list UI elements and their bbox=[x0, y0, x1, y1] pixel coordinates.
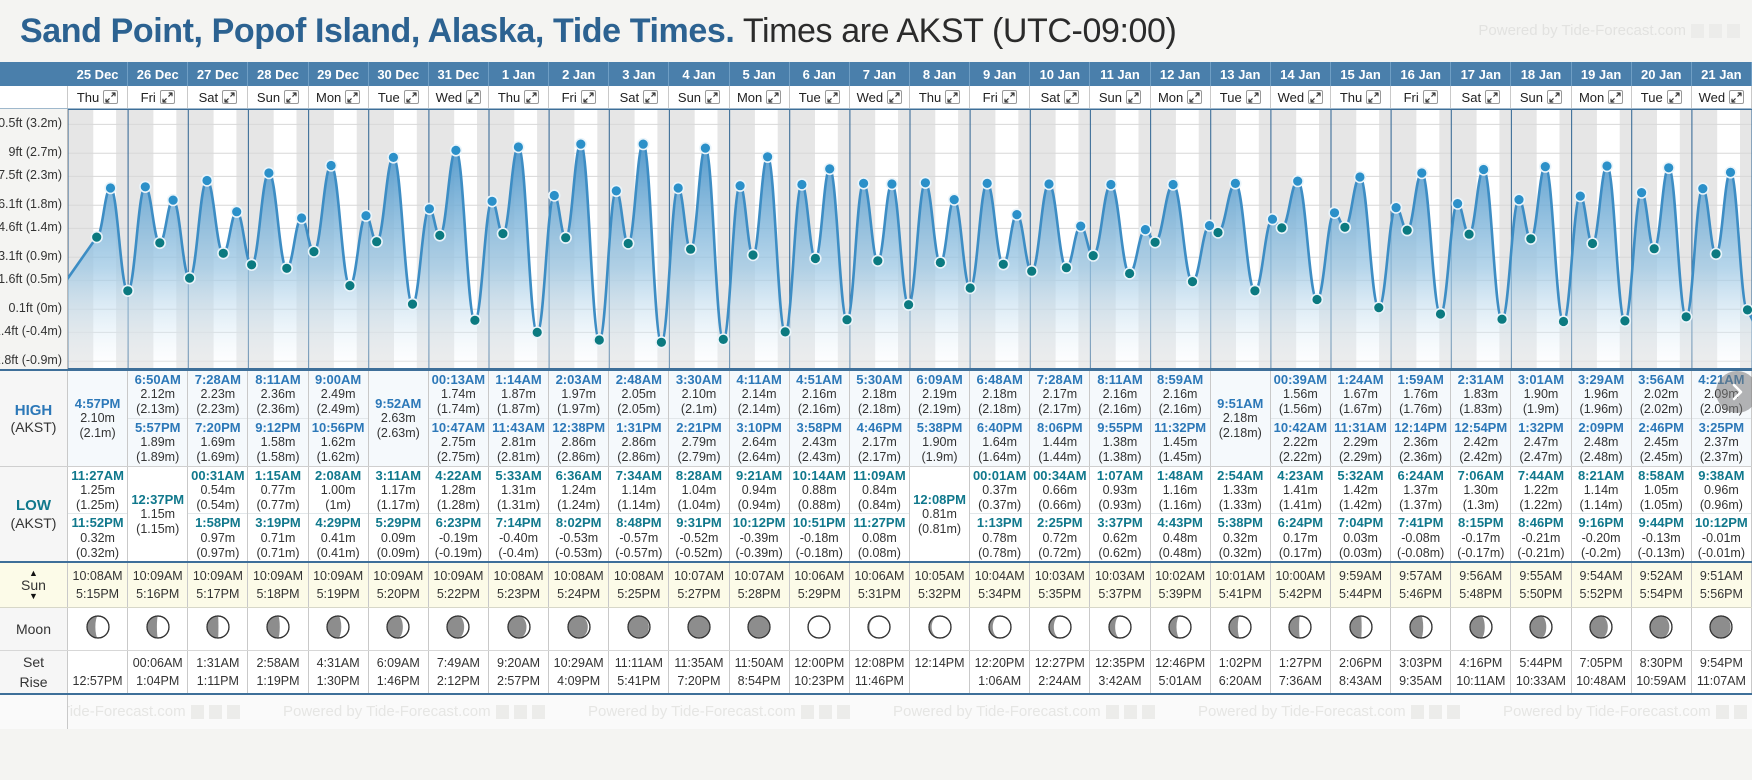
low-tide-time: 5:32AM bbox=[1337, 468, 1383, 483]
low-tide-time: 8:48PM bbox=[616, 515, 662, 530]
low-tide-entry: 6:36AM1.24m(1.24m) bbox=[549, 467, 608, 514]
brand-icon-1 bbox=[1411, 705, 1424, 719]
low-tide-cell: 11:27AM1.25m(1.25m)11:52PM0.32m(0.32m) bbox=[68, 467, 128, 562]
high-tide-time: 7:28AM bbox=[1037, 372, 1083, 387]
low-tide-row: LOW (AKST) 11:27AM1.25m(1.25m)11:52PM0.3… bbox=[0, 467, 1752, 564]
sunset-time: 5:44PM bbox=[1339, 585, 1382, 604]
expand-arrows-icon[interactable] bbox=[1366, 90, 1381, 104]
high-tide-cell: 1:24AM1.67m(1.67m)11:31AM2.29m(2.29m) bbox=[1331, 371, 1391, 466]
moon-phase-cell bbox=[429, 608, 489, 650]
moon-phase-cell bbox=[489, 608, 549, 650]
high-tide-time: 12:54PM bbox=[1454, 420, 1507, 435]
high-tide-height-alt: (2.1m) bbox=[681, 402, 717, 417]
high-tide-height: 2.29m bbox=[1343, 435, 1378, 450]
high-tide-entry: 8:11AM2.16m(2.16m) bbox=[1090, 371, 1149, 418]
high-tide-cell: 6:48AM2.18m(2.18m)6:40PM1.64m(1.64m) bbox=[970, 371, 1030, 466]
high-tide-entry: 00:13AM1.74m(1.74m) bbox=[429, 371, 488, 418]
moon-phase-cell bbox=[128, 608, 188, 650]
moon-setrise-cell: 12:35PM3:42AM bbox=[1090, 651, 1150, 693]
moon-phase-icon bbox=[145, 614, 171, 645]
date-header-row: 25 Dec26 Dec27 Dec28 Dec29 Dec30 Dec31 D… bbox=[0, 62, 1752, 86]
sunset-time: 5:42PM bbox=[1279, 585, 1322, 604]
sun-cell: 10:09AM5:19PM bbox=[309, 563, 369, 607]
sunrise-time: 9:56AM bbox=[1459, 567, 1502, 586]
moonrise-time: 9:35AM bbox=[1399, 672, 1442, 690]
high-tide-height-alt: (2.79m) bbox=[677, 450, 720, 465]
low-tide-entry: 1:13PM0.78m(0.78m) bbox=[970, 513, 1029, 561]
high-tide-time: 1:14AM bbox=[495, 372, 541, 387]
moon-phase-icon bbox=[205, 614, 231, 645]
low-tide-time: 7:41PM bbox=[1398, 515, 1444, 530]
low-tide-entry: 10:14AM0.88m(0.88m) bbox=[790, 467, 849, 514]
date-header-cell[interactable]: 1 Jan bbox=[489, 62, 549, 86]
high-tide-height: 2.75m bbox=[441, 435, 476, 450]
date-header-cell[interactable]: 9 Jan bbox=[970, 62, 1030, 86]
footer-watermark-text: Powered by Tide-Forecast.com bbox=[1503, 703, 1711, 720]
high-tide-entry: 12:14PM2.36m(2.36m) bbox=[1391, 418, 1450, 466]
high-tide-cell: 3:30AM2.10m(2.1m)2:21PM2.79m(2.79m) bbox=[669, 371, 729, 466]
high-tide-time: 4:57PM bbox=[75, 396, 121, 411]
expand-arrows-icon[interactable] bbox=[887, 90, 902, 104]
low-tide-entry: 5:33AM1.31m(1.31m) bbox=[489, 467, 548, 514]
high-tide-height-alt: (2.16m) bbox=[798, 402, 841, 417]
low-tide-time: 00:31AM bbox=[191, 468, 244, 483]
brand-icon-3 bbox=[837, 705, 850, 719]
expand-arrows-icon[interactable] bbox=[1608, 90, 1623, 104]
date-header-cell[interactable]: 7 Jan bbox=[850, 62, 910, 86]
high-tide-time: 5:57PM bbox=[135, 420, 181, 435]
weekday-header-cell: Wed bbox=[1692, 86, 1752, 108]
high-tide-entry: 2:21PM2.79m(2.79m) bbox=[669, 418, 728, 466]
high-tide-height: 2.18m bbox=[982, 387, 1017, 402]
low-tide-height: -0.01m bbox=[1702, 531, 1741, 546]
low-tide-cell: 7:44AM1.22m(1.22m)8:46PM-0.21m(-0.21m) bbox=[1511, 467, 1571, 562]
date-header-cell[interactable]: 14 Jan bbox=[1271, 62, 1331, 86]
date-header-cell[interactable]: 28 Dec bbox=[248, 62, 308, 86]
low-tide-cell: 6:24AM1.37m(1.37m)7:41PM-0.08m(-0.08m) bbox=[1391, 467, 1451, 562]
high-tide-height: 2.16m bbox=[1103, 387, 1138, 402]
sun-cell: 10:06AM5:29PM bbox=[790, 563, 850, 607]
sunrise-time: 9:55AM bbox=[1519, 567, 1562, 586]
expand-arrows-icon[interactable] bbox=[1126, 90, 1141, 104]
low-tide-cell: 5:32AM1.42m(1.42m)7:04PM0.03m(0.03m) bbox=[1331, 467, 1391, 562]
low-tide-entry: 12:08PM0.81m(0.81m) bbox=[910, 467, 969, 562]
expand-arrows-icon[interactable] bbox=[345, 90, 360, 104]
moon-phase-icon bbox=[1287, 614, 1313, 645]
moon-phase-icon bbox=[1468, 614, 1494, 645]
expand-arrows-icon[interactable] bbox=[705, 90, 720, 104]
high-tide-entry: 9:00AM2.49m(2.49m) bbox=[309, 371, 368, 418]
low-tide-time: 2:54AM bbox=[1217, 468, 1263, 483]
moon-setrise-cell: 11:50AM8:54PM bbox=[730, 651, 790, 693]
high-tide-cell: 5:30AM2.18m(2.18m)4:46PM2.17m(2.17m) bbox=[850, 371, 910, 466]
sunset-time: 5:29PM bbox=[798, 585, 841, 604]
expand-arrows-icon[interactable] bbox=[1064, 90, 1079, 104]
date-header-cell[interactable]: 11 Jan bbox=[1090, 62, 1150, 86]
moonrise-time: 1:04PM bbox=[136, 672, 179, 690]
high-tide-height-alt: (2.45m) bbox=[1640, 450, 1683, 465]
expand-arrows-icon[interactable] bbox=[160, 90, 175, 104]
date-header-cell[interactable]: 18 Jan bbox=[1511, 62, 1571, 86]
low-tide-entry: 1:58PM0.97m(0.97m) bbox=[188, 513, 247, 561]
high-tide-height: 2.10m bbox=[682, 387, 717, 402]
low-tide-height-alt: (0.97m) bbox=[196, 546, 239, 561]
low-tide-height-alt: (0.94m) bbox=[738, 498, 781, 513]
date-header-cell[interactable]: 12 Jan bbox=[1151, 62, 1211, 86]
moonset-time: 11:11AM bbox=[615, 654, 663, 672]
next-arrow-icon[interactable] bbox=[1716, 371, 1752, 413]
expand-arrows-icon[interactable] bbox=[825, 90, 840, 104]
moon-setrise-cell: 12:00PM10:23PM bbox=[790, 651, 850, 693]
page-header: Sand Point, Popof Island, Alaska, Tide T… bbox=[0, 0, 1752, 62]
low-tide-entry: 4:29PM0.41m(0.41m) bbox=[309, 513, 368, 561]
moon-phase-cell bbox=[1391, 608, 1451, 650]
low-tide-height: 0.71m bbox=[261, 531, 296, 546]
moon-phase-icon bbox=[866, 614, 892, 645]
powered-by-text: Powered by Tide-Forecast.com bbox=[1478, 22, 1686, 39]
date-header-cell[interactable]: 17 Jan bbox=[1451, 62, 1511, 86]
weekday-label: Mon bbox=[1579, 90, 1604, 105]
low-tide-height: -0.52m bbox=[680, 531, 719, 546]
low-tide-time: 8:28AM bbox=[676, 468, 722, 483]
high-tide-entry: 2:46PM2.45m(2.45m) bbox=[1632, 418, 1691, 466]
tide-curve-plot[interactable] bbox=[68, 109, 1752, 369]
low-tide-height-alt: (1.16m) bbox=[1159, 498, 1202, 513]
low-tide-cell: 00:01AM0.37m(0.37m)1:13PM0.78m(0.78m) bbox=[970, 467, 1030, 562]
high-tide-height: 2.42m bbox=[1463, 435, 1498, 450]
low-tide-height-alt: (0.88m) bbox=[798, 498, 841, 513]
high-tide-time: 2:31AM bbox=[1458, 372, 1504, 387]
date-header-cell[interactable]: 27 Dec bbox=[188, 62, 248, 86]
sunrise-time: 10:05AM bbox=[915, 567, 965, 586]
moon-phase-icon bbox=[325, 614, 351, 645]
brand-icon-1 bbox=[1691, 24, 1704, 38]
moon-setrise-cell: 7:05PM10:48AM bbox=[1572, 651, 1632, 693]
high-tide-height-alt: (2.75m) bbox=[437, 450, 480, 465]
low-tide-height: 1.30m bbox=[1463, 483, 1498, 498]
low-tide-height-alt: (1.14m) bbox=[1580, 498, 1623, 513]
date-header-cell[interactable]: 26 Dec bbox=[128, 62, 188, 86]
expand-arrows-icon[interactable] bbox=[1667, 90, 1682, 104]
expand-arrows-icon[interactable] bbox=[222, 90, 237, 104]
low-tide-height-alt: (1.22m) bbox=[1519, 498, 1562, 513]
low-tide-height-alt: (1m) bbox=[325, 498, 351, 513]
low-tide-entry: 8:15PM-0.17m(-0.17m) bbox=[1451, 513, 1510, 561]
sunset-time: 5:23PM bbox=[497, 585, 540, 604]
high-tide-time: 12:14PM bbox=[1394, 420, 1447, 435]
expand-arrows-icon[interactable] bbox=[945, 90, 960, 104]
high-tide-cell: 8:11AM2.16m(2.16m)9:55PM1.38m(1.38m) bbox=[1090, 371, 1150, 466]
high-tide-height-alt: (1.58m) bbox=[256, 450, 299, 465]
date-header-cell[interactable]: 6 Jan bbox=[790, 62, 850, 86]
high-tide-entry: 7:20PM1.69m(1.69m) bbox=[188, 418, 247, 466]
expand-arrows-icon[interactable] bbox=[766, 90, 781, 104]
high-tide-height: 2.16m bbox=[802, 387, 837, 402]
high-tide-cell: 7:28AM2.17m(2.17m)8:06PM1.44m(1.44m) bbox=[1030, 371, 1090, 466]
high-tide-entry: 3:56AM2.02m(2.02m) bbox=[1632, 371, 1691, 418]
high-tide-entry: 11:31AM2.29m(2.29m) bbox=[1331, 418, 1390, 466]
low-tide-height-alt: (0.72m) bbox=[1038, 546, 1081, 561]
high-tide-height: 2.86m bbox=[561, 435, 596, 450]
weekday-label: Wed bbox=[1699, 90, 1726, 105]
high-tide-height-alt: (2.81m) bbox=[497, 450, 540, 465]
date-header-cell[interactable]: 20 Jan bbox=[1632, 62, 1692, 86]
sun-cell: 10:09AM5:16PM bbox=[128, 563, 188, 607]
expand-arrows-icon[interactable] bbox=[524, 90, 539, 104]
low-tide-time: 8:02PM bbox=[556, 515, 602, 530]
sun-cell: 10:08AM5:15PM bbox=[68, 563, 128, 607]
moon-setrise-cell: 11:35AM7:20PM bbox=[669, 651, 729, 693]
sunset-time: 5:41PM bbox=[1219, 585, 1262, 604]
weekday-header-cell: Sun bbox=[669, 86, 729, 108]
sun-cell: 10:08AM5:23PM bbox=[489, 563, 549, 607]
page-title: Sand Point, Popof Island, Alaska, Tide T… bbox=[20, 12, 1176, 51]
date-header-cell[interactable]: 8 Jan bbox=[910, 62, 970, 86]
high-tide-height-alt: (1.56m) bbox=[1279, 402, 1322, 417]
moon-phase-cell bbox=[1572, 608, 1632, 650]
high-tide-height: 2.37m bbox=[1704, 435, 1739, 450]
high-tide-time: 11:43AM bbox=[492, 420, 545, 435]
sunset-time: 5:18PM bbox=[256, 585, 299, 604]
expand-arrows-icon[interactable] bbox=[1729, 90, 1744, 104]
low-tide-height-alt: (0.81m) bbox=[918, 522, 961, 537]
low-tide-time: 12:08PM bbox=[913, 492, 966, 507]
low-tide-time: 3:11AM bbox=[376, 468, 422, 483]
low-tide-entry: 8:58AM1.05m(1.05m) bbox=[1632, 467, 1691, 514]
high-tide-time: 10:56PM bbox=[312, 420, 365, 435]
date-header-cell[interactable]: 15 Jan bbox=[1331, 62, 1391, 86]
moonrise-time: 3:42AM bbox=[1098, 672, 1141, 690]
moon-phase-cell bbox=[910, 608, 970, 650]
high-tide-time: 3:58PM bbox=[796, 420, 842, 435]
low-tide-height-alt: (-0.08m) bbox=[1397, 546, 1444, 561]
date-header-cell[interactable]: 4 Jan bbox=[669, 62, 729, 86]
date-header-cell[interactable]: 21 Jan bbox=[1692, 62, 1752, 86]
low-tide-height-alt: (0.93m) bbox=[1098, 498, 1141, 513]
weekday-label: Tue bbox=[1641, 90, 1663, 105]
high-tide-height: 2.18m bbox=[1223, 411, 1258, 426]
high-tide-height: 2.79m bbox=[682, 435, 717, 450]
date-header-cell[interactable]: 2 Jan bbox=[549, 62, 609, 86]
high-tide-entry: 5:57PM1.89m(1.89m) bbox=[128, 418, 187, 466]
high-tide-cell: 9:00AM2.49m(2.49m)10:56PM1.62m(1.62m) bbox=[309, 371, 369, 466]
low-tide-entry: 9:16PM-0.20m(-0.2m) bbox=[1572, 513, 1631, 561]
moonset-time: 2:06PM bbox=[1339, 654, 1382, 672]
high-tide-time: 8:59AM bbox=[1157, 372, 1203, 387]
moonset-time: 11:35AM bbox=[674, 654, 723, 672]
moon-phase-cell bbox=[790, 608, 850, 650]
high-tide-time: 3:29AM bbox=[1578, 372, 1624, 387]
high-tide-entry: 2:31AM1.83m(1.83m) bbox=[1451, 371, 1510, 418]
low-tide-cell: 5:33AM1.31m(1.31m)7:14PM-0.40m(-0.4m) bbox=[489, 467, 549, 562]
high-tide-cell: 3:56AM2.02m(2.02m)2:46PM2.45m(2.45m) bbox=[1632, 371, 1692, 466]
sunset-time: 5:16PM bbox=[136, 585, 179, 604]
weekday-label: Wed bbox=[436, 90, 463, 105]
expand-arrows-icon[interactable] bbox=[404, 90, 419, 104]
tide-tables: HIGH (AKST) 4:57PM2.10m(2.1m)6:50AM2.12m… bbox=[0, 369, 1752, 563]
expand-arrows-icon[interactable] bbox=[643, 90, 658, 104]
low-tide-time: 1:48AM bbox=[1157, 468, 1203, 483]
moon-cells bbox=[68, 608, 1752, 650]
high-tide-cells: 4:57PM2.10m(2.1m)6:50AM2.12m(2.13m)5:57P… bbox=[68, 371, 1752, 466]
footer-watermark: Powered by Tide-Forecast.com bbox=[588, 703, 850, 720]
high-tide-time: 3:25PM bbox=[1699, 420, 1745, 435]
high-tide-height-alt: (2.16m) bbox=[1098, 402, 1141, 417]
footer-corner bbox=[0, 695, 68, 729]
moon-phase-icon bbox=[686, 614, 712, 645]
low-tide-cell: 9:21AM0.94m(0.94m)10:12PM-0.39m(-0.39m) bbox=[730, 467, 790, 562]
weekday-header-cell: Tue bbox=[790, 86, 850, 108]
high-tide-entry: 1:31PM2.86m(2.86m) bbox=[609, 418, 668, 466]
high-tide-height-alt: (1.62m) bbox=[317, 450, 360, 465]
low-tide-cell: 7:06AM1.30m(1.3m)8:15PM-0.17m(-0.17m) bbox=[1451, 467, 1511, 562]
date-header-cell[interactable]: 31 Dec bbox=[429, 62, 489, 86]
moonset-time: 12:20PM bbox=[975, 654, 1025, 672]
weekday-header-cell: Thu bbox=[68, 86, 128, 108]
high-tide-height-alt: (2.17m) bbox=[858, 450, 901, 465]
low-tide-height-alt: (1.33m) bbox=[1219, 498, 1262, 513]
low-tide-height-alt: (0.96m) bbox=[1700, 498, 1743, 513]
low-tide-height: 0.37m bbox=[982, 483, 1017, 498]
weekday-header-corner bbox=[0, 86, 68, 108]
expand-arrows-icon[interactable] bbox=[1547, 90, 1562, 104]
expand-arrows-icon[interactable] bbox=[1485, 90, 1500, 104]
date-header-cells: 25 Dec26 Dec27 Dec28 Dec29 Dec30 Dec31 D… bbox=[68, 62, 1752, 86]
high-tide-cell: 8:59AM2.16m(2.16m)11:32PM1.45m(1.45m) bbox=[1151, 371, 1211, 466]
high-tide-height: 2.43m bbox=[802, 435, 837, 450]
high-tide-height-alt: (1.96m) bbox=[1580, 402, 1623, 417]
expand-arrows-icon[interactable] bbox=[1246, 90, 1261, 104]
expand-arrows-icon[interactable] bbox=[103, 90, 118, 104]
low-tide-cell: 9:38AM0.96m(0.96m)10:12PM-0.01m(-0.01m) bbox=[1692, 467, 1752, 562]
high-tide-entry: 1:32PM2.47m(2.47m) bbox=[1511, 418, 1570, 466]
high-tide-height-alt: (2.22m) bbox=[1279, 450, 1322, 465]
low-tide-time: 10:51PM bbox=[793, 515, 846, 530]
sunset-time: 5:25PM bbox=[617, 585, 660, 604]
brand-icon-1 bbox=[191, 705, 204, 719]
high-tide-height: 1.74m bbox=[441, 387, 476, 402]
high-tide-height: 1.97m bbox=[561, 387, 596, 402]
high-tide-height: 2.23m bbox=[200, 387, 235, 402]
sun-cell: 9:57AM5:46PM bbox=[1391, 563, 1451, 607]
low-tide-height-alt: (-0.2m) bbox=[1581, 546, 1621, 561]
moonrise-time: 5:41PM bbox=[617, 672, 660, 690]
moonrise-time: 1:11PM bbox=[197, 672, 239, 690]
y-axis-tick-label: 10.5ft (3.2m) bbox=[0, 116, 62, 130]
moon-phase-icon bbox=[385, 614, 411, 645]
date-header-cell[interactable]: 3 Jan bbox=[609, 62, 669, 86]
moon-phase-cell bbox=[248, 608, 308, 650]
high-tide-height-alt: (2.64m) bbox=[738, 450, 781, 465]
weekday-header-cell: Tue bbox=[1632, 86, 1692, 108]
high-tide-time: 9:00AM bbox=[315, 372, 361, 387]
high-tide-entry: 6:48AM2.18m(2.18m) bbox=[970, 371, 1029, 418]
date-header-cell[interactable]: 30 Dec bbox=[369, 62, 429, 86]
low-tide-height: 0.84m bbox=[862, 483, 897, 498]
low-tide-height: -0.57m bbox=[619, 531, 658, 546]
weekday-header-cell: Thu bbox=[1331, 86, 1391, 108]
date-header-cell[interactable]: 5 Jan bbox=[730, 62, 790, 86]
expand-arrows-icon[interactable] bbox=[1187, 90, 1202, 104]
high-tide-time: 1:31PM bbox=[616, 420, 662, 435]
low-tide-time: 6:23PM bbox=[436, 515, 482, 530]
y-axis-tick-label: 1.6ft (0.5m) bbox=[0, 272, 62, 286]
low-tide-cell: 11:09AM0.84m(0.84m)11:27PM0.08m(0.08m) bbox=[850, 467, 910, 562]
expand-arrows-icon[interactable] bbox=[466, 90, 481, 104]
sunrise-time: 10:09AM bbox=[133, 567, 183, 586]
high-tide-height-alt: (2.17m) bbox=[1038, 402, 1081, 417]
expand-arrows-icon[interactable] bbox=[1423, 90, 1438, 104]
weekday-label: Fri bbox=[983, 90, 998, 105]
sunset-time: 5:39PM bbox=[1159, 585, 1202, 604]
expand-arrows-icon[interactable] bbox=[284, 90, 299, 104]
low-tide-height-alt: (0.62m) bbox=[1098, 546, 1141, 561]
sun-cell: 10:06AM5:31PM bbox=[850, 563, 910, 607]
moonset-time: 00:06AM bbox=[133, 654, 183, 672]
moon-setrise-cell: 6:09AM1:46PM bbox=[369, 651, 429, 693]
moon-phase-cell bbox=[1211, 608, 1271, 650]
y-axis-tick-label: -2.8ft (-0.9m) bbox=[0, 353, 62, 367]
moon-setrise-cell: 12:46PM5:01AM bbox=[1151, 651, 1211, 693]
high-tide-height: 1.90m bbox=[1524, 387, 1559, 402]
low-tide-height-alt: (1.41m) bbox=[1279, 498, 1322, 513]
weekday-header-cell: Tue bbox=[1211, 86, 1271, 108]
high-tide-entry: 7:28AM2.17m(2.17m) bbox=[1030, 371, 1089, 418]
sunrise-time: 10:09AM bbox=[433, 567, 483, 586]
high-tide-timezone: (AKST) bbox=[11, 419, 57, 435]
moonrise-time: 2:12PM bbox=[437, 672, 480, 690]
date-header-cell[interactable]: 25 Dec bbox=[68, 62, 128, 86]
sun-cell: 10:07AM5:28PM bbox=[730, 563, 790, 607]
date-header-cell[interactable]: 10 Jan bbox=[1030, 62, 1090, 86]
date-header-cell[interactable]: 29 Dec bbox=[309, 62, 369, 86]
brand-icon-1 bbox=[801, 705, 814, 719]
low-tide-entry: 7:04PM0.03m(0.03m) bbox=[1331, 513, 1390, 561]
expand-arrows-icon[interactable] bbox=[581, 90, 596, 104]
moonrise-time: 6:20AM bbox=[1219, 672, 1262, 690]
date-header-corner bbox=[0, 62, 68, 86]
high-tide-height: 2.14m bbox=[742, 387, 777, 402]
weekday-label: Sun bbox=[678, 90, 701, 105]
high-tide-height: 1.38m bbox=[1103, 435, 1138, 450]
moon-phase-cell bbox=[1511, 608, 1571, 650]
low-tide-entry: 11:09AM0.84m(0.84m) bbox=[850, 467, 909, 514]
expand-arrows-icon[interactable] bbox=[1308, 90, 1323, 104]
low-tide-height-alt: (-0.18m) bbox=[796, 546, 843, 561]
high-tide-height: 2.63m bbox=[381, 411, 416, 426]
sunset-time: 5:52PM bbox=[1580, 585, 1623, 604]
low-tide-entry: 6:24PM0.17m(0.17m) bbox=[1271, 513, 1330, 561]
low-tide-height-alt: (0.32m) bbox=[1219, 546, 1262, 561]
brand-icon-2 bbox=[1124, 705, 1137, 719]
sunset-time: 5:27PM bbox=[677, 585, 720, 604]
date-header-cell[interactable]: 19 Jan bbox=[1572, 62, 1632, 86]
brand-icon-2 bbox=[819, 705, 832, 719]
expand-arrows-icon[interactable] bbox=[1002, 90, 1017, 104]
low-tide-time: 11:27AM bbox=[71, 468, 124, 483]
high-tide-row: HIGH (AKST) 4:57PM2.10m(2.1m)6:50AM2.12m… bbox=[0, 371, 1752, 467]
date-header-cell[interactable]: 13 Jan bbox=[1211, 62, 1271, 86]
low-tide-height: 1.00m bbox=[321, 483, 356, 498]
high-tide-height: 1.96m bbox=[1584, 387, 1619, 402]
high-tide-time: 9:55PM bbox=[1097, 420, 1143, 435]
moonrise-time: 11:07AM bbox=[1697, 672, 1746, 690]
date-header-cell[interactable]: 16 Jan bbox=[1391, 62, 1451, 86]
low-tide-time: 5:38PM bbox=[1217, 515, 1263, 530]
brand-icon-3 bbox=[1142, 705, 1155, 719]
low-tide-time: 7:04PM bbox=[1338, 515, 1384, 530]
low-tide-height-alt: (0.66m) bbox=[1038, 498, 1081, 513]
